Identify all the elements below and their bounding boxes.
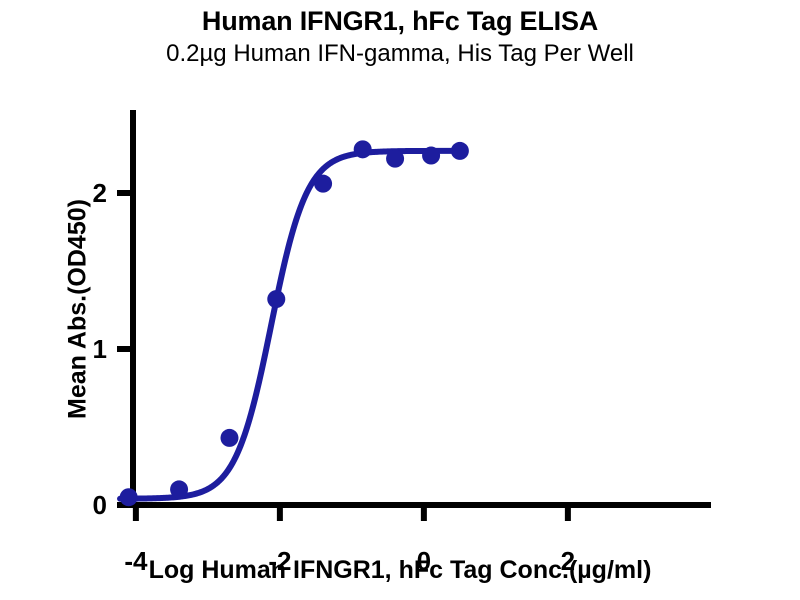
plot-area: -4-202 012 — [0, 0, 800, 600]
data-point — [422, 147, 440, 165]
y-axis-tick-labels: 012 — [93, 178, 107, 520]
y-tick-label: 0 — [93, 490, 107, 520]
data-point — [451, 142, 469, 160]
data-point — [354, 140, 372, 158]
y-tick-label: 2 — [93, 178, 107, 208]
fit-curve-line — [120, 151, 464, 499]
x-axis-label: Log Human IFNGR1, hFc Tag Conc.(µg/ml) — [0, 556, 800, 585]
axes-group — [133, 113, 708, 505]
elisa-chart-figure: Human IFNGR1, hFc Tag ELISA 0.2µg Human … — [0, 0, 800, 600]
y-axis-label: Mean Abs.(OD450) — [64, 199, 93, 419]
data-point — [386, 150, 404, 168]
data-point — [120, 488, 138, 506]
data-point — [220, 429, 238, 447]
y-tick-label: 1 — [93, 334, 107, 364]
data-point — [267, 290, 285, 308]
data-point — [170, 480, 188, 498]
data-point-markers — [120, 140, 469, 506]
data-point — [314, 175, 332, 193]
